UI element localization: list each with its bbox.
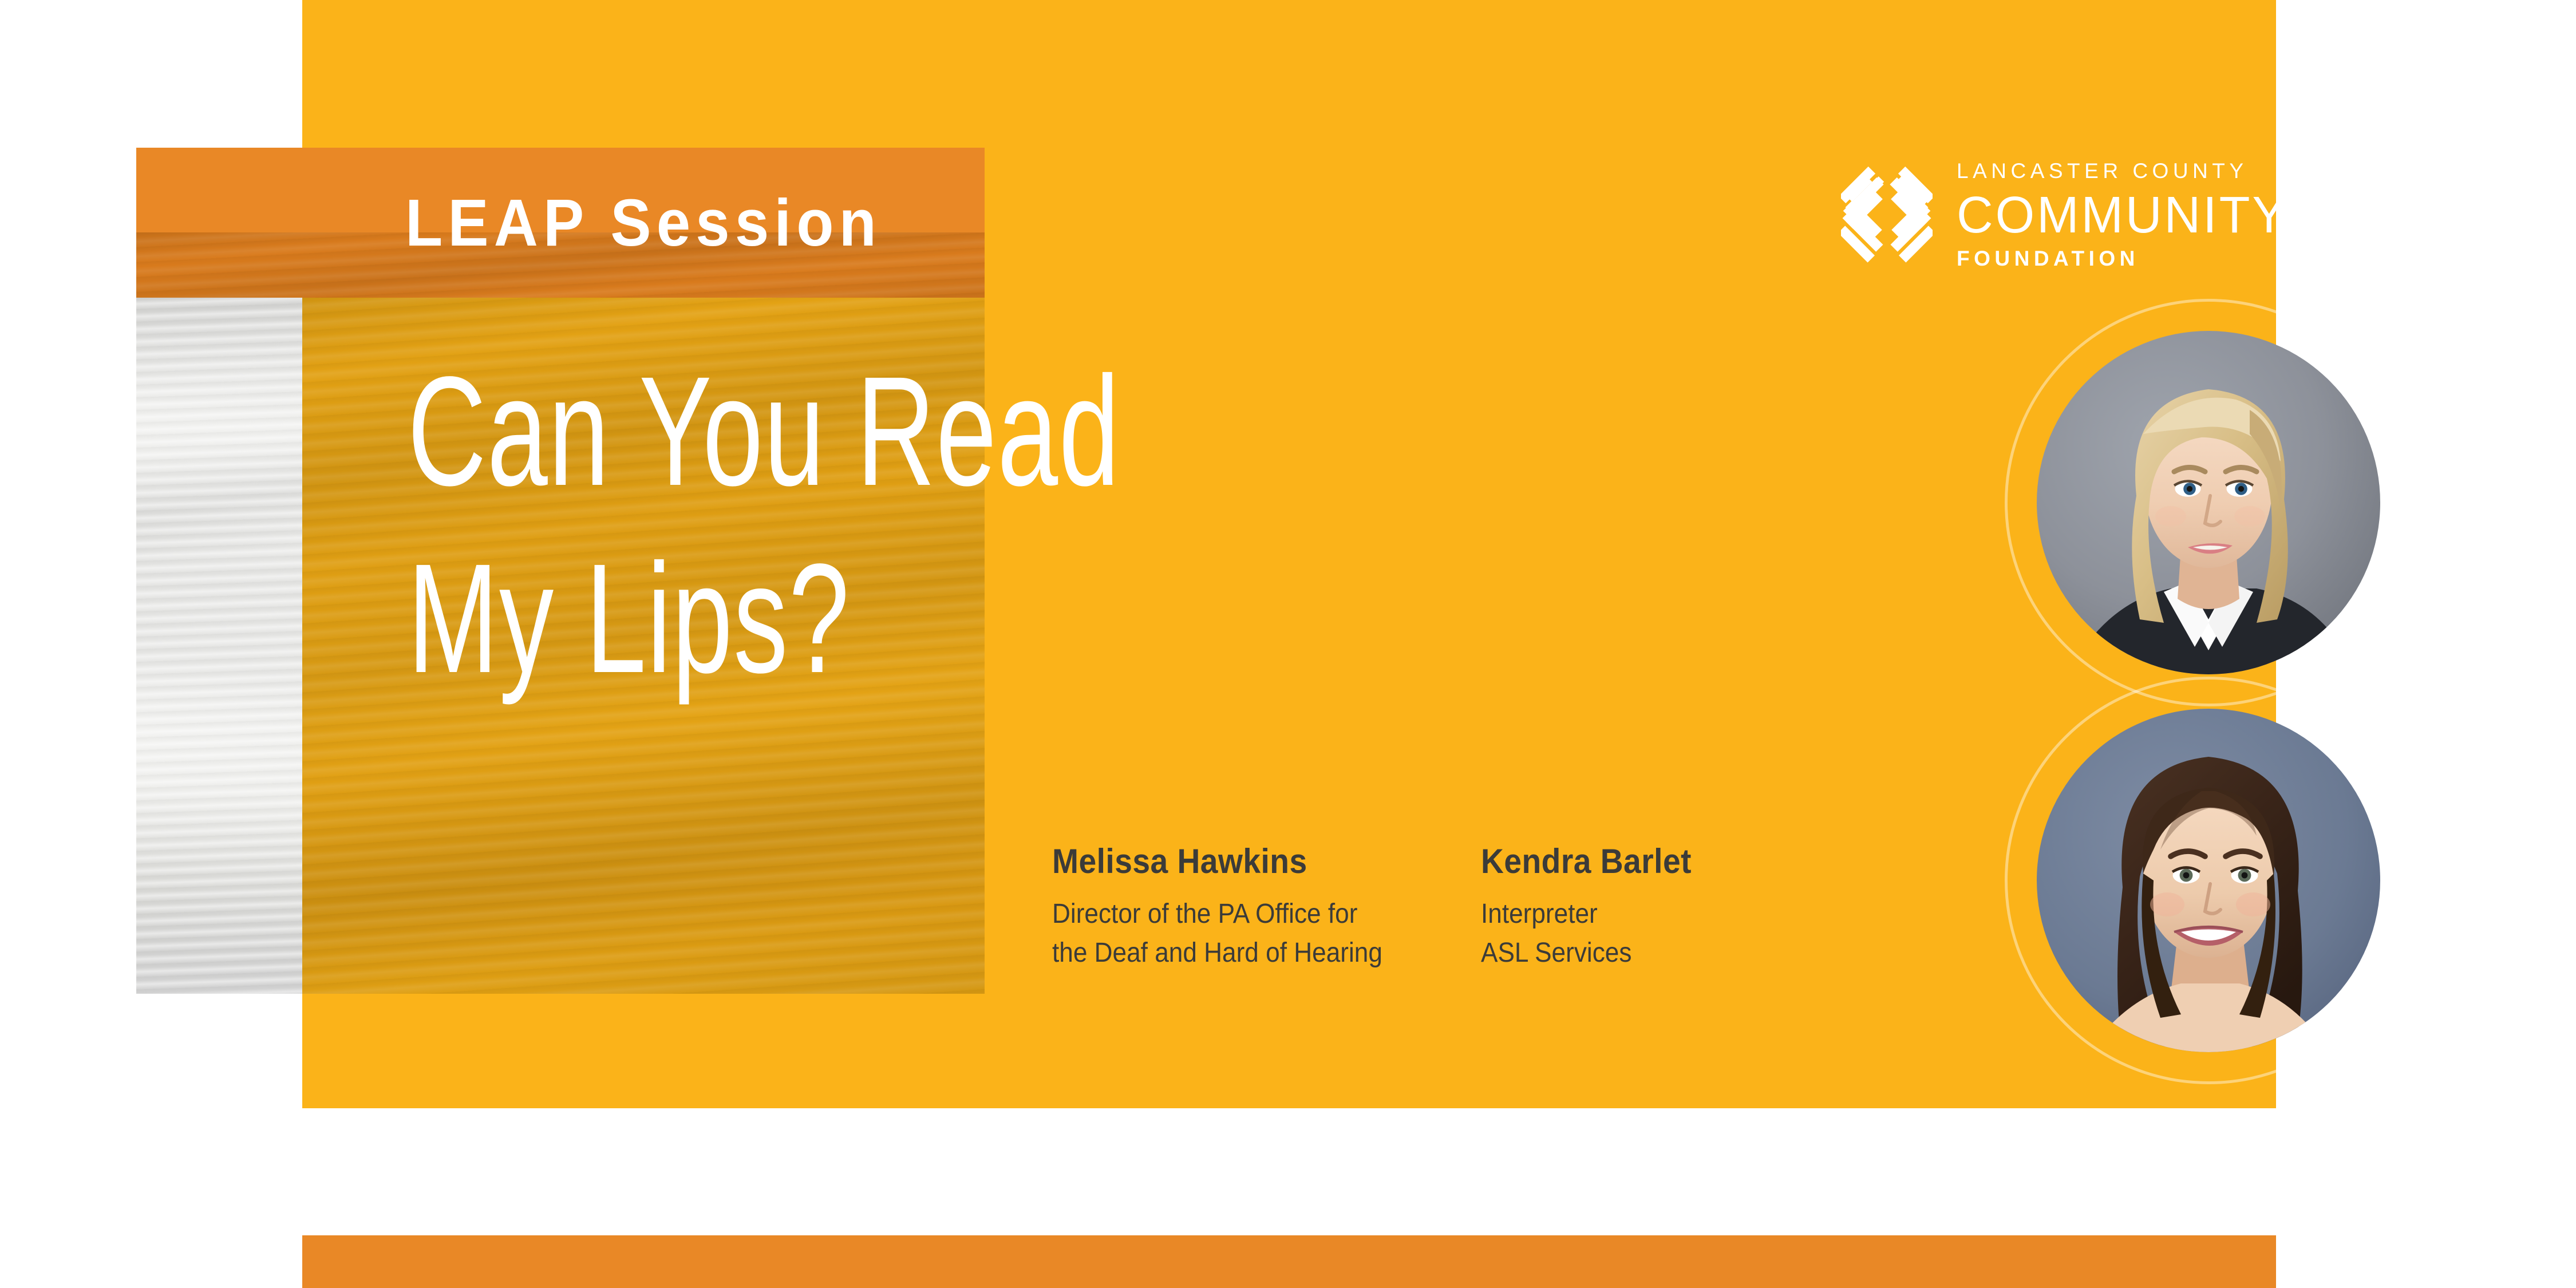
headshot-photo: [2037, 331, 2380, 674]
bottom-orange-bar: [302, 1235, 2276, 1288]
logo-line-lancaster-county: LANCASTER COUNTY: [1957, 160, 2295, 181]
gray-texture-panel: [136, 297, 302, 994]
woven-diamond-logo-mark-icon: [1841, 165, 1933, 264]
speaker-role-line-2: the Deaf and Hard of Hearing: [1052, 934, 1382, 973]
speaker-role-line-1: Director of the PA Office for: [1052, 895, 1382, 934]
headshot-photo: [2037, 709, 2380, 1052]
speaker-role-line-1: Interpreter: [1481, 895, 1692, 934]
speaker-name: Melissa Hawkins: [1052, 841, 1382, 881]
avatar-melissa-hawkins: [2037, 331, 2380, 674]
speaker-name: Kendra Barlet: [1481, 841, 1692, 881]
speaker-role-line-2: ASL Services: [1481, 934, 1692, 973]
leap-session-label: LEAP Session: [405, 189, 882, 256]
speaker-kendra-barlet: Kendra Barlet Interpreter ASL Services: [1481, 841, 1710, 973]
logo-line-foundation: FOUNDATION: [1957, 248, 2295, 269]
event-banner-canvas: LEAP Session Can You Read My Lips?: [0, 0, 2576, 1288]
page-title: Can You Read My Lips?: [408, 355, 1425, 694]
avatar-kendra-barlet: [2037, 709, 2380, 1052]
leap-session-banner: LEAP Session: [136, 148, 985, 298]
speaker-list: Melissa Hawkins Director of the PA Offic…: [1052, 841, 1710, 973]
title-line-1: Can You Read: [408, 355, 1120, 508]
title-line-2: My Lips?: [408, 542, 1120, 695]
lancaster-county-community-foundation-logo: LANCASTER COUNTY COMMUNITY FOUNDATION: [1841, 160, 2295, 269]
logo-wordmark: LANCASTER COUNTY COMMUNITY FOUNDATION: [1957, 160, 2295, 269]
speaker-role: Director of the PA Office for the Deaf a…: [1052, 895, 1382, 973]
speaker-melissa-hawkins: Melissa Hawkins Director of the PA Offic…: [1052, 841, 1411, 973]
logo-line-community: COMMUNITY: [1957, 189, 2288, 241]
speaker-role: Interpreter ASL Services: [1481, 895, 1692, 973]
